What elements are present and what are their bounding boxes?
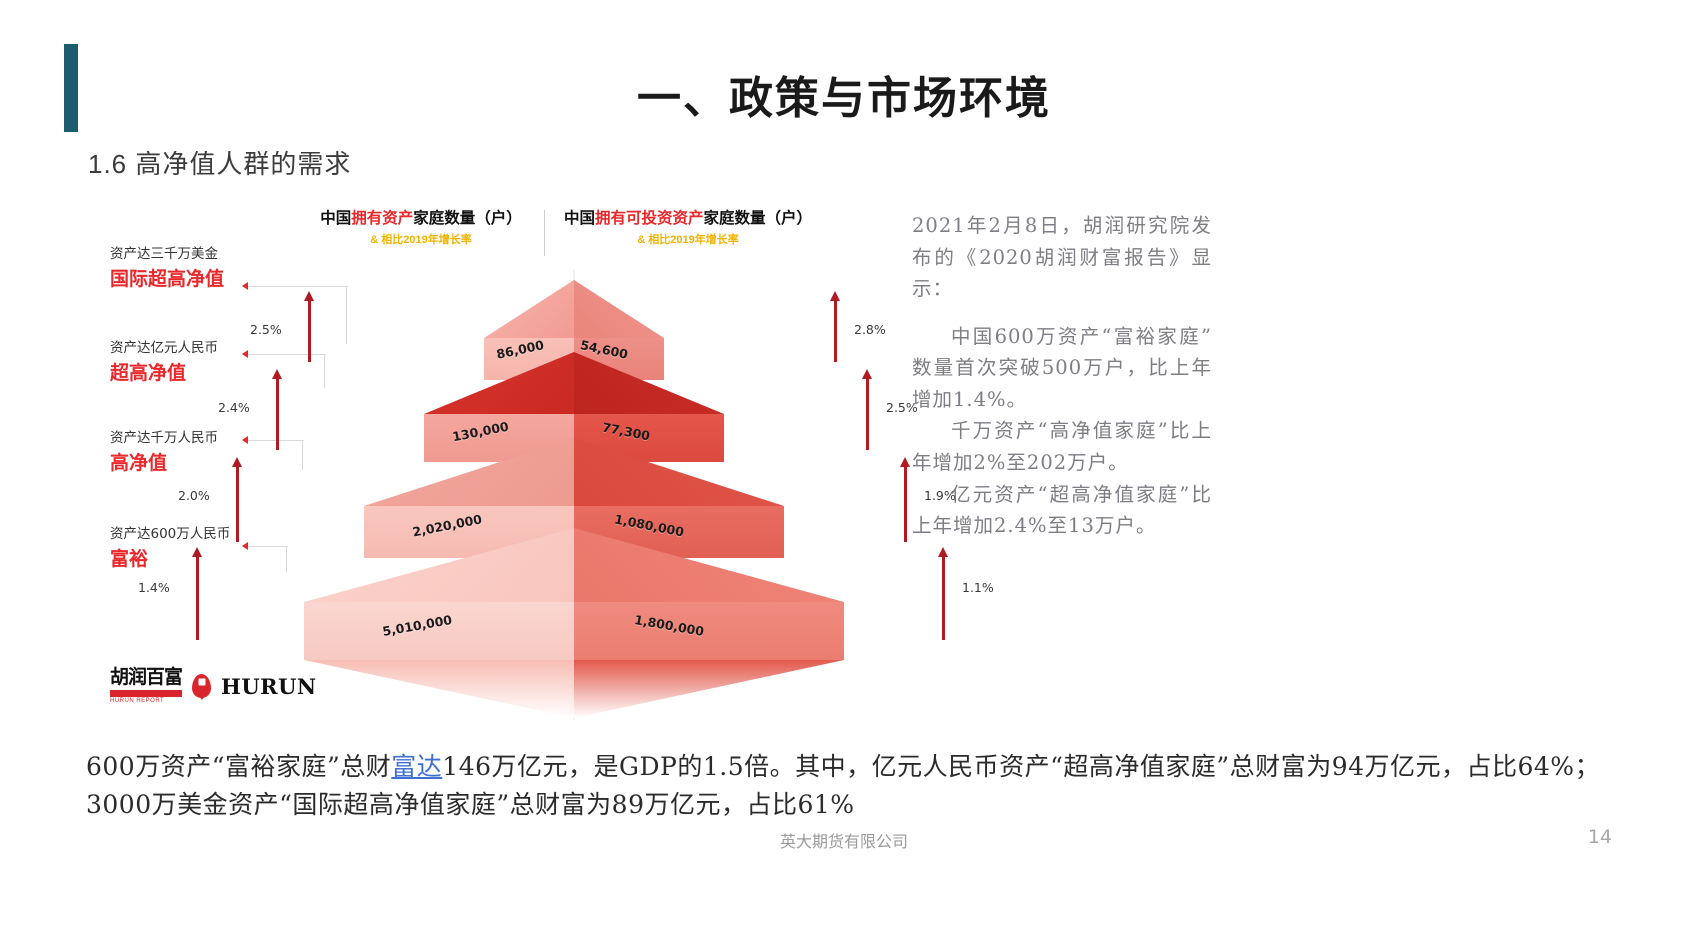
tier-name: 富裕	[110, 548, 300, 571]
hurun-logo-cn-block: 胡润百富 HURUN REPORT	[110, 668, 182, 704]
pyramid-graphic: 86,000 54,600 130,000 77,300	[294, 270, 854, 700]
location-pin-icon	[192, 674, 211, 698]
tier-3-top-left	[364, 438, 574, 506]
growth-pct-tier2-left: 2.4%	[218, 400, 250, 415]
col2-growth-note: & 相比2019年增长率	[548, 231, 828, 247]
col1-growth-note: & 相比2019年增长率	[296, 231, 546, 247]
growth-pct-tier1-left: 2.5%	[250, 322, 282, 337]
tier-2-top	[424, 352, 724, 414]
column-header-assets: 中国拥有资产家庭数量（户） & 相比2019年增长率	[296, 206, 546, 247]
growth-arrow-tier4-right	[942, 556, 945, 640]
tier-asset-threshold: 资产达千万人民币	[110, 430, 300, 448]
tier-3-top	[364, 438, 784, 506]
growth-arrow-tier2-right	[866, 378, 869, 450]
tier-1-top-left	[484, 280, 574, 338]
col1-highlight: 拥有资产	[351, 209, 413, 227]
hurun-logo-bar	[110, 690, 182, 697]
report-paragraph-4: 亿元资产“超高净值家庭”比上年增加2.4%至13万户。	[912, 479, 1212, 542]
chart-column-headers: 中国拥有资产家庭数量（户） & 相比2019年增长率 中国拥有可投资资产家庭数量…	[296, 206, 826, 258]
tier-4-front-right	[574, 602, 844, 660]
section-subtitle: 1.6 高净值人群的需求	[88, 144, 351, 181]
col2-suffix: 家庭数量（户）	[704, 209, 813, 227]
report-paragraph-2: 中国600万资产“富裕家庭”数量首次突破500万户，比上年增加1.4%。	[912, 321, 1212, 416]
footer-company-name: 英大期货有限公司	[0, 828, 1688, 852]
hurun-logo: 胡润百富 HURUN REPORT HURUN	[110, 668, 317, 704]
tier-4-top-left	[304, 528, 574, 602]
tier-3-top-right	[574, 438, 784, 506]
growth-pct-tier1-right: 2.8%	[854, 322, 886, 337]
tier-label-affluent: 资产达600万人民币 富裕	[110, 526, 300, 570]
tier-2-top-right	[574, 352, 724, 414]
col1-suffix: 家庭数量（户）	[413, 209, 522, 227]
tier-4-front-left	[304, 602, 574, 660]
growth-arrow-tier2-left	[276, 378, 279, 450]
bottom-text-part-2: 146万亿元，是GDP的1.5倍。其中，亿元人民币资产“超高净值家庭”总	[442, 752, 1255, 781]
report-summary-text: 2021年2月8日，胡润研究院发布的《2020胡润财富报告》显示： 中国600万…	[912, 210, 1212, 542]
tier-4-top	[304, 528, 844, 602]
slide: 一、政策与市场环境 1.6 高净值人群的需求 中国拥有资产家庭数量（户） & 相…	[0, 0, 1688, 949]
connector-arrow-3	[242, 436, 248, 444]
tier-label-international-uhnw: 资产达三千万美金 国际超高净值	[110, 246, 300, 290]
growth-pct-tier4-left: 1.4%	[138, 580, 170, 595]
page-number: 14	[1588, 826, 1612, 848]
tier-1-top-right	[574, 280, 664, 338]
growth-arrow-tier4-left	[196, 556, 199, 640]
bottom-text-part-1: 600万资产“富裕家庭”总财	[86, 752, 391, 781]
growth-arrow-tier1-left	[308, 300, 311, 362]
tier-asset-threshold: 资产达600万人民币	[110, 526, 300, 544]
tier-4-top-right	[574, 528, 844, 602]
tier-label-hnw: 资产达千万人民币 高净值	[110, 430, 300, 474]
page-title: 一、政策与市场环境	[0, 62, 1688, 126]
slide-left-edge	[0, 0, 10, 949]
tier-name: 高净值	[110, 452, 300, 475]
hurun-logo-cn-text: 胡润百富	[110, 668, 182, 687]
col1-prefix: 中国	[320, 209, 351, 227]
column-header-investable-assets: 中国拥有可投资资产家庭数量（户） & 相比2019年增长率	[548, 206, 828, 247]
col2-highlight: 拥有可投资资产	[595, 209, 704, 227]
connector-line-4	[248, 546, 288, 547]
bottom-summary-paragraph: 600万资产“富裕家庭”总财富达146万亿元，是GDP的1.5倍。其中，亿元人民…	[86, 748, 1606, 823]
hurun-logo-en-text: HURUN	[221, 674, 317, 699]
growth-pct-tier4-right: 1.1%	[962, 580, 994, 595]
pyramid-tier-4: 5,010,000 1,800,000	[304, 528, 844, 660]
report-paragraph-3: 千万资产“高净值家庭”比上年增加2%至202万户。	[912, 415, 1212, 478]
tier-asset-threshold: 资产达三千万美金	[110, 246, 300, 264]
growth-arrow-tier3-right	[904, 466, 907, 542]
connector-arrow-4	[242, 542, 248, 550]
bottom-text-link[interactable]: 富达	[391, 752, 442, 781]
hurun-logo-tagline: HURUN REPORT	[110, 698, 182, 704]
connector-arrow-2	[242, 350, 248, 358]
growth-arrow-tier3-left	[236, 466, 239, 542]
wealth-pyramid-chart: 中国拥有资产家庭数量（户） & 相比2019年增长率 中国拥有可投资资产家庭数量…	[96, 198, 856, 718]
connector-arrow-1	[242, 282, 248, 290]
connector-line-4-vert	[286, 546, 287, 572]
tier-1-top	[484, 280, 664, 338]
pyramid-base-shadow	[304, 660, 844, 718]
growth-arrow-tier1-right	[834, 300, 837, 362]
col2-prefix: 中国	[564, 209, 595, 227]
tier-2-top-left	[424, 352, 574, 414]
growth-pct-tier3-left: 2.0%	[178, 488, 210, 503]
report-paragraph-1: 2021年2月8日，胡润研究院发布的《2020胡润财富报告》显示：	[912, 210, 1212, 305]
